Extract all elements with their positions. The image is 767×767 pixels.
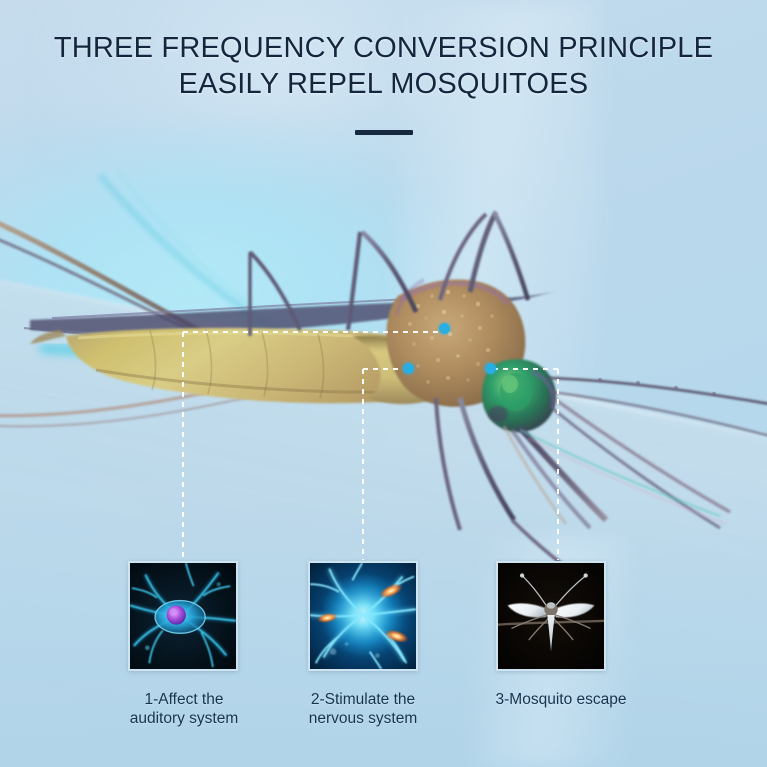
title-divider [355, 130, 413, 135]
caption-1: 1-Affect the auditory system [113, 690, 255, 728]
promo-banner: THREE FREQUENCY CONVERSION PRINCIPLE EAS… [0, 0, 767, 767]
page-header: THREE FREQUENCY CONVERSION PRINCIPLE EAS… [0, 30, 767, 135]
caption-2: 2-Stimulate the nervous system [292, 690, 434, 728]
page-title-line-2: EASILY REPEL MOSQUITOES [0, 66, 767, 102]
page-title-line-1: THREE FREQUENCY CONVERSION PRINCIPLE [0, 30, 767, 66]
caption-3: 3-Mosquito escape [478, 690, 644, 709]
